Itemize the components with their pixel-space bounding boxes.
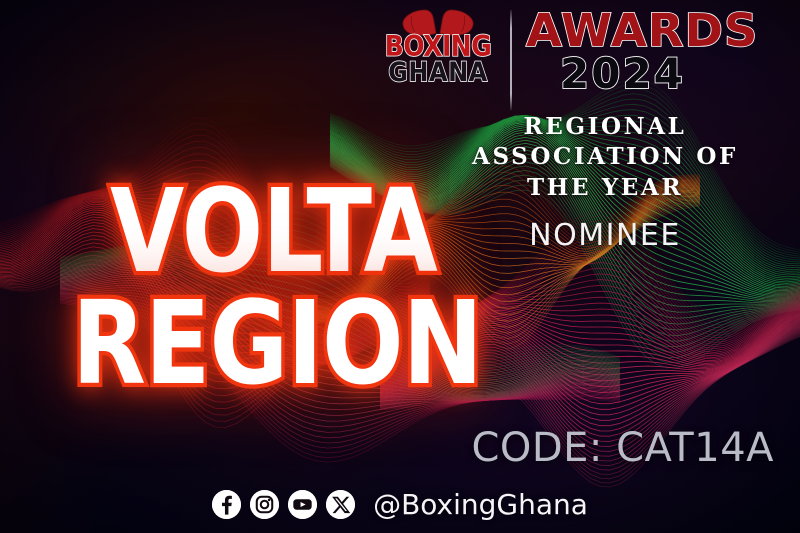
social-handle: @BoxingGhana bbox=[373, 488, 588, 521]
awards-word: AWARDS bbox=[526, 10, 758, 51]
awards-year: 2024 bbox=[560, 53, 752, 95]
x-twitter-icon[interactable] bbox=[326, 490, 355, 519]
nominee-name-line-1: VOLTA bbox=[110, 176, 520, 288]
category-line-2: ASSOCIATION OF bbox=[430, 142, 780, 172]
nominee-name: VOLTA REGION bbox=[0, 176, 520, 381]
logo-text-ghana: GHANA bbox=[378, 59, 498, 85]
award-nominee-poster: BOXING GHANA AWARDS 2024 REGIONAL ASSOCI… bbox=[0, 0, 800, 533]
instagram-icon[interactable] bbox=[250, 490, 279, 519]
category-line-1: REGIONAL bbox=[430, 112, 780, 142]
social-footer: @BoxingGhana bbox=[0, 488, 800, 521]
youtube-icon[interactable] bbox=[288, 490, 317, 519]
facebook-icon[interactable] bbox=[212, 490, 241, 519]
header-divider bbox=[510, 10, 512, 110]
boxing-ghana-logo: BOXING GHANA bbox=[378, 8, 498, 94]
voting-code: CODE: CAT14A bbox=[471, 425, 774, 471]
awards-title-block: AWARDS 2024 bbox=[526, 8, 752, 95]
poster-header: BOXING GHANA AWARDS 2024 bbox=[378, 8, 752, 110]
nominee-name-line-2: REGION bbox=[72, 288, 520, 400]
